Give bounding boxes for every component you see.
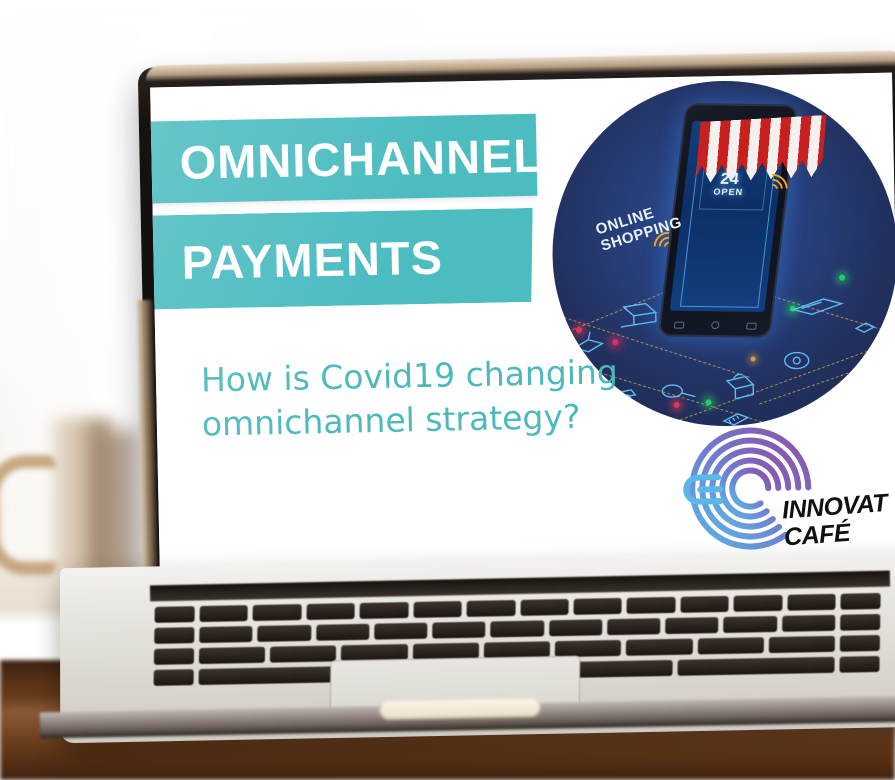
key[interactable] — [257, 625, 311, 642]
key[interactable] — [839, 656, 879, 673]
key[interactable] — [840, 593, 880, 610]
key[interactable] — [677, 657, 834, 676]
key[interactable] — [154, 648, 194, 665]
key[interactable] — [734, 595, 783, 612]
slide-question: How is Covid19 changing omnichannel stra… — [201, 350, 623, 446]
key[interactable] — [665, 617, 719, 634]
banner-omnichannel: OMNICHANNEL — [150, 114, 537, 207]
key[interactable] — [782, 615, 836, 632]
key[interactable] — [840, 635, 880, 652]
presentation-slide: 24 OPEN ONLINE SHOPPING OMNICHANNEL — [150, 73, 895, 584]
key[interactable] — [432, 622, 486, 639]
key[interactable] — [199, 647, 265, 664]
key[interactable] — [680, 596, 729, 613]
credit-card-icon — [787, 293, 848, 324]
laptop-base-notch — [380, 698, 540, 719]
key[interactable] — [573, 598, 622, 615]
shopping-bag-icon — [719, 368, 766, 405]
background-pillar-shadow — [96, 430, 136, 580]
key[interactable] — [200, 605, 249, 622]
key[interactable] — [253, 604, 302, 621]
banner-line1-text: OMNICHANNEL — [179, 127, 544, 189]
key[interactable] — [697, 637, 763, 654]
screenshot-stage: 24 OPEN ONLINE SHOPPING OMNICHANNEL — [0, 0, 895, 780]
cart-icon — [778, 345, 819, 378]
key[interactable] — [155, 606, 195, 623]
key[interactable] — [769, 636, 835, 653]
key[interactable] — [360, 602, 409, 619]
key[interactable] — [199, 626, 253, 643]
logo-wordmark: INNOVAT CAFÉ — [781, 487, 895, 551]
key[interactable] — [467, 600, 516, 617]
banner-line2-text: PAYMENTS — [181, 229, 443, 289]
key[interactable] — [723, 616, 777, 633]
laptop-icon — [615, 300, 662, 335]
innovation-cafe-logo: INNOVAT CAFÉ — [657, 417, 895, 572]
key[interactable] — [154, 627, 194, 644]
key[interactable] — [840, 614, 880, 631]
key[interactable] — [627, 597, 676, 614]
key[interactable] — [626, 639, 692, 656]
banner-payments: PAYMENTS — [150, 208, 534, 313]
background-chair — [0, 455, 56, 575]
key[interactable] — [520, 599, 569, 616]
phone-nav-buttons — [661, 320, 771, 330]
key[interactable] — [490, 620, 544, 637]
key[interactable] — [413, 601, 462, 618]
key[interactable] — [374, 623, 428, 640]
key[interactable] — [549, 619, 603, 636]
key[interactable] — [316, 624, 370, 641]
key[interactable] — [154, 669, 194, 686]
key[interactable] — [607, 618, 661, 635]
laptop-screen[interactable]: 24 OPEN ONLINE SHOPPING OMNICHANNEL — [150, 73, 895, 584]
key[interactable] — [787, 594, 836, 611]
key[interactable] — [306, 603, 355, 620]
key[interactable] — [555, 640, 621, 657]
key[interactable] — [270, 645, 336, 662]
magnifier-icon — [659, 377, 702, 406]
location-pin-icon — [850, 314, 881, 345]
